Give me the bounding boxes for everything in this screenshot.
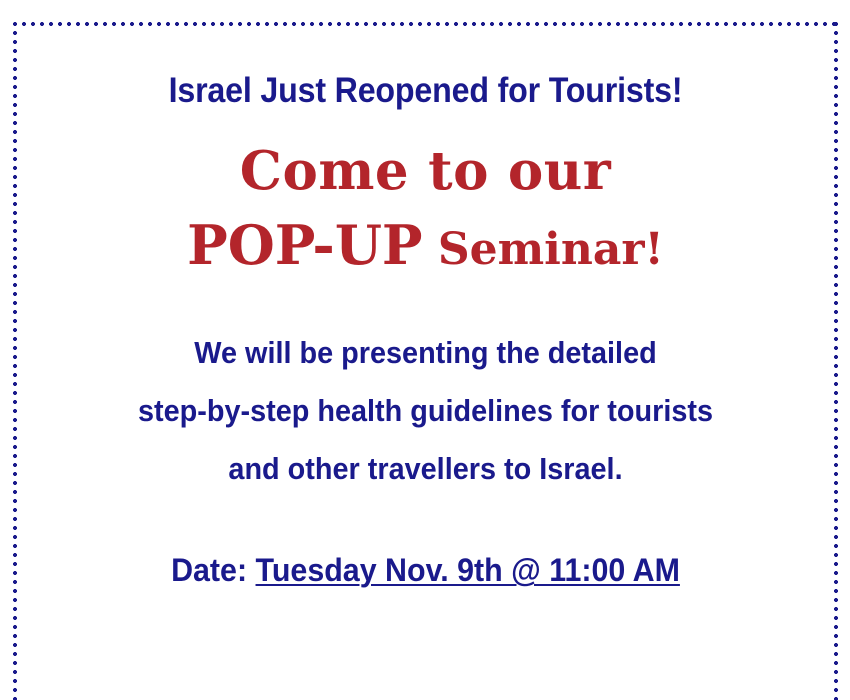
seminar-announcement: Come to our POP-UP Seminar! (17, 113, 834, 288)
body-line-3: and other travellers to Israel. (46, 440, 806, 498)
announcement-seminar-word: Seminar! (423, 224, 664, 275)
announcement-line-2: POP-UP Seminar! (17, 207, 834, 288)
date-value: Tuesday Nov. 9th @ 11:00 AM (256, 552, 680, 588)
border-right (834, 22, 838, 700)
announcement-line-1: Come to our (17, 135, 834, 207)
body-line-1: We will be presenting the detailed (46, 324, 806, 382)
headline: Israel Just Reopened for Tourists! (50, 22, 802, 113)
event-date-line: Date: Tuesday Nov. 9th @ 11:00 AM (37, 498, 813, 590)
announcement-popup-word: POP-UP (187, 213, 422, 277)
flyer-content: Israel Just Reopened for Tourists! Come … (17, 22, 834, 700)
body-paragraph: We will be presenting the detailed step-… (46, 288, 806, 498)
flyer-poster: Israel Just Reopened for Tourists! Come … (0, 0, 850, 700)
date-label: Date: (171, 552, 255, 588)
body-line-2: step-by-step health guidelines for touri… (46, 382, 806, 440)
